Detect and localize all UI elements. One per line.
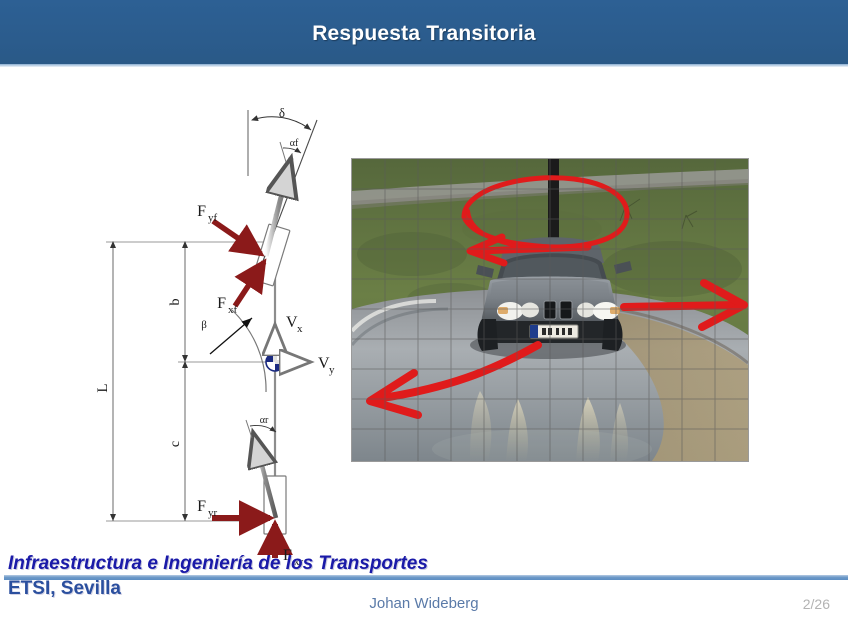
label-alpha-rear: αr [260,415,269,426]
force-Fyr-label: F yr [197,498,217,519]
svg-text:F: F [197,498,206,515]
rear-slip-angle-alpha: αr [246,415,276,438]
force-Fxf-arrow [235,262,264,306]
svg-text:F: F [197,203,206,220]
dimension-c: c [168,362,185,521]
label-alpha-front: αf [290,138,299,149]
svg-text:yr: yr [208,507,218,519]
diagram-svg: L b c [80,96,360,566]
svg-text:yf: yf [208,212,218,224]
force-Fyf-label: F yf [197,203,217,224]
header-underline [0,64,848,67]
steer-angle-delta: δ [248,105,311,176]
car-skidpad-photo [351,158,749,462]
sideslip-angle-beta: β [201,310,266,392]
dimension-b: b [168,242,185,362]
label-delta: δ [279,105,285,120]
force-Fyf-arrow [213,221,261,254]
svg-text:y: y [329,364,335,376]
velocity-y-label: V y [318,355,335,376]
bicycle-model-diagram: L b c [80,96,360,566]
wheel-right [602,319,623,351]
dimension-L: L [95,242,113,521]
footer-organization: Infraestructura e Ingeniería de los Tran… [8,553,428,575]
dimension-label-c: c [168,441,183,447]
svg-text:x: x [297,323,303,335]
wheel-left [478,319,499,351]
photo-svg [352,159,748,461]
slide-page-number: 2/26 [803,596,830,612]
dimension-label-b: b [168,299,183,306]
page-title: Respuesta Transitoria [0,22,848,46]
velocity-x-label: V x [286,314,303,335]
dimension-lines [106,242,285,521]
label-beta: β [201,319,207,331]
dimension-label-L: L [95,383,111,392]
footer-divider [4,575,848,580]
slide: Respuesta Transitoria [0,0,848,636]
footer-author: Johan Wideberg [0,595,848,612]
svg-text:F: F [217,295,226,312]
